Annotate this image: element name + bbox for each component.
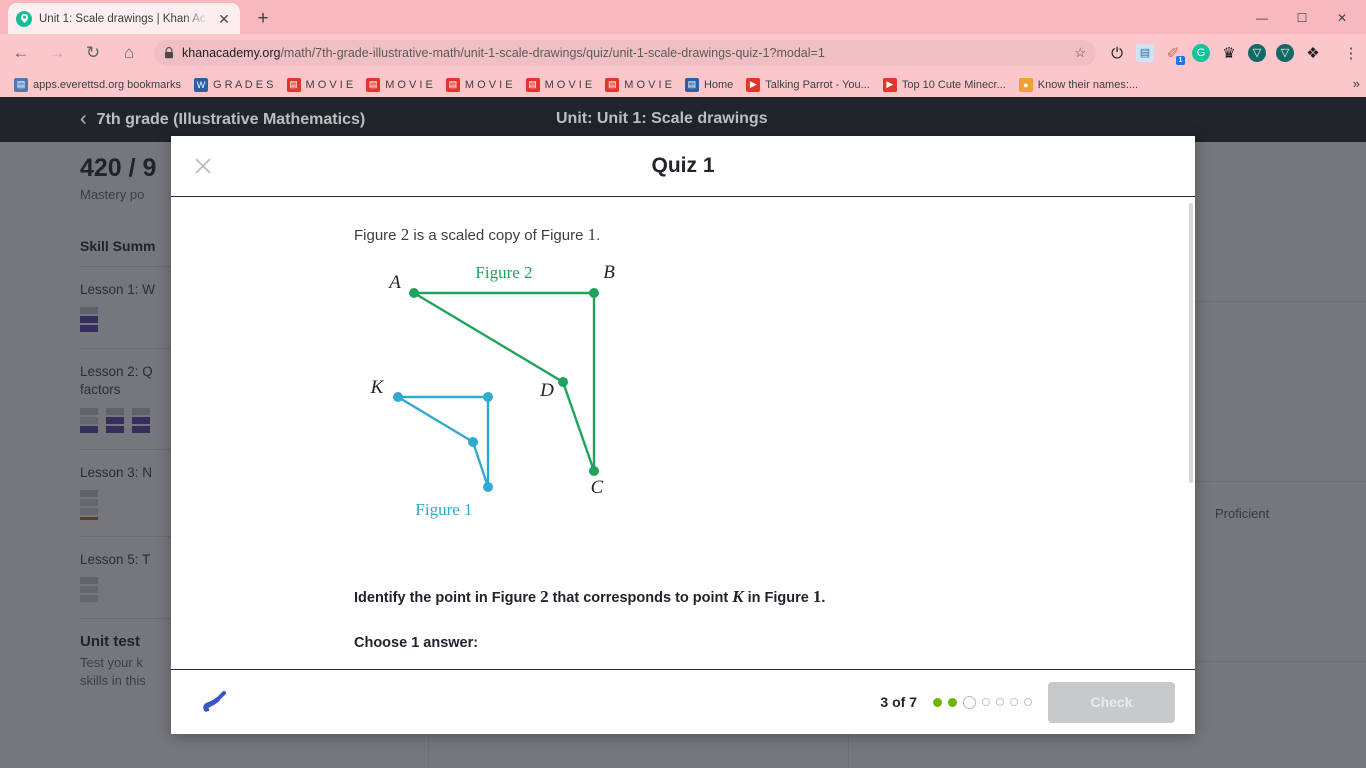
bookmark-label: Top 10 Cute Minecr...	[902, 79, 1006, 91]
question-prompt: Figure 2 is a scaled copy of Figure 1.	[354, 223, 1195, 247]
figure-2-vertex	[589, 466, 599, 476]
browser-tab-title: Unit 1: Scale drawings | Khan Ac	[39, 13, 209, 25]
khan-academy-pencil-icon[interactable]	[197, 685, 231, 719]
home-icon[interactable]: ⌂	[114, 38, 144, 68]
bookmark-item[interactable]: ▤M O V I E	[599, 76, 678, 94]
bookmark-item[interactable]: ▤Home	[679, 76, 739, 94]
window-minimize-button[interactable]: —	[1242, 8, 1282, 28]
clapper-icon: ▤	[287, 78, 301, 92]
screen: Unit 1: Scale drawings | Khan Ac ✕ + — ☐…	[0, 0, 1366, 768]
bookmark-item[interactable]: ▤M O V I E	[360, 76, 439, 94]
window-maximize-button[interactable]: ☐	[1282, 8, 1322, 28]
progress-dot-todo	[996, 698, 1004, 706]
browser-toolbar: ← → ↻ ⌂ khanacademy.org/math/7th-grade-i…	[0, 34, 1366, 72]
app-icon: ●	[1019, 78, 1033, 92]
figure-diagram: ABDCFigure 2KFigure 1	[171, 257, 1193, 577]
prompt-text-end: .	[596, 227, 600, 244]
bookmark-label: apps.everettsd.org bookmarks	[33, 79, 181, 91]
quiz-footer: 3 of 7 Check	[171, 670, 1195, 734]
progress-dot-todo	[982, 698, 990, 706]
bookmark-item[interactable]: ▶Top 10 Cute Minecr...	[877, 76, 1012, 94]
shield-extension-icon[interactable]: ▽	[1248, 44, 1266, 62]
extension-tray: ⏻▤✐1G♛▽▽❖	[1104, 40, 1330, 66]
figure-2-edge	[414, 293, 563, 382]
bookmark-item[interactable]: WG R A D E S	[188, 76, 280, 94]
bookmark-star-icon[interactable]: ☆	[1074, 45, 1086, 61]
browser-tab-strip: Unit 1: Scale drawings | Khan Ac ✕ + — ☐…	[0, 0, 1366, 34]
grammarly-extension-icon[interactable]: G	[1192, 44, 1210, 62]
bookmark-label: M O V I E	[545, 79, 593, 91]
figure-2-point-label: D	[539, 380, 554, 401]
prompt-text-middle: is a scaled copy of Figure	[409, 227, 587, 244]
bookmark-item[interactable]: ▤M O V I E	[520, 76, 599, 94]
quiz-modal-header: Quiz 1	[171, 136, 1195, 196]
quiz-title: Quiz 1	[651, 154, 714, 178]
bookmark-label: M O V I E	[624, 79, 672, 91]
grammar-extension-icon[interactable]: ✐1	[1160, 40, 1186, 66]
ask-part-d: .	[821, 590, 825, 606]
bookmark-label: M O V I E	[385, 79, 433, 91]
quiz-content: Figure 2 is a scaled copy of Figure 1. A…	[171, 196, 1195, 670]
khan-academy-leaf-icon	[16, 11, 32, 27]
bookmark-item[interactable]: ▶Talking Parrot - You...	[740, 76, 876, 94]
question-counter: 3 of 7	[880, 694, 917, 710]
bookmark-label: G R A D E S	[213, 79, 274, 91]
prompt-figure-2: 2	[401, 225, 410, 244]
progress-dot-current	[963, 696, 976, 709]
figure-1-edge	[473, 442, 488, 487]
ask-figure-2: 2	[540, 587, 549, 606]
bookmarks-bar: ▤apps.everettsd.org bookmarksWG R A D E …	[0, 72, 1366, 97]
address-bar[interactable]: khanacademy.org/math/7th-grade-illustrat…	[154, 40, 1096, 66]
browser-tab[interactable]: Unit 1: Scale drawings | Khan Ac ✕	[8, 3, 240, 34]
figure-2-caption: Figure 2	[475, 263, 532, 282]
puzzle-extension-icon[interactable]: ❖	[1300, 40, 1326, 66]
progress-dots	[933, 696, 1032, 709]
bookmark-item[interactable]: ●Know their names:...	[1013, 76, 1144, 94]
bookmark-item[interactable]: ▤M O V I E	[281, 76, 360, 94]
bookmark-label: Know their names:...	[1038, 79, 1138, 91]
folder-icon: ▤	[14, 78, 28, 92]
forward-icon[interactable]: →	[42, 38, 72, 68]
scale-drawing-svg: ABDCFigure 2KFigure 1	[171, 257, 1193, 577]
clapper-icon: ▤	[446, 78, 460, 92]
check-button[interactable]: Check	[1048, 682, 1175, 723]
bookmark-item[interactable]: ▤M O V I E	[440, 76, 519, 94]
screenshot-extension-icon[interactable]: ♛	[1216, 40, 1242, 66]
figure-1-caption: Figure 1	[415, 500, 472, 519]
address-bar-text: khanacademy.org/math/7th-grade-illustrat…	[182, 46, 1066, 60]
progress-dot-todo	[1024, 698, 1032, 706]
bookmark-item[interactable]: ▤apps.everettsd.org bookmarks	[8, 76, 187, 94]
figure-2-vertex	[409, 288, 419, 298]
progress-dot-done	[948, 698, 957, 707]
figure-2-point-label: B	[603, 262, 615, 283]
extension-badge: 1	[1176, 56, 1185, 65]
clapper-icon: ▤	[526, 78, 540, 92]
shield-two-extension-icon[interactable]: ▽	[1276, 44, 1294, 62]
figure-2-point-label: C	[591, 477, 604, 498]
figure-1-vertex	[393, 392, 403, 402]
bookmark-label: Home	[704, 79, 733, 91]
prompt-figure-1: 1	[588, 225, 597, 244]
bookmark-label: Talking Parrot - You...	[765, 79, 870, 91]
footer-right-group: 3 of 7 Check	[880, 682, 1175, 723]
figure-1-edge	[398, 397, 473, 442]
clapper-icon: ▤	[366, 78, 380, 92]
figure-2-point-label: A	[387, 272, 401, 293]
url-domain: khanacademy.org	[182, 46, 280, 60]
reload-icon[interactable]: ↻	[78, 38, 108, 68]
w-icon: W	[194, 78, 208, 92]
window-controls: — ☐ ✕	[1242, 8, 1362, 28]
window-icon: ▤	[685, 78, 699, 92]
figure-1-vertex	[483, 482, 493, 492]
progress-dot-done	[933, 698, 942, 707]
window-close-button[interactable]: ✕	[1322, 8, 1362, 28]
close-icon[interactable]	[190, 153, 216, 179]
figure-1-point-label: K	[370, 377, 385, 398]
prompt-text-before: Figure	[354, 227, 401, 244]
bookmarks-overflow-icon[interactable]: »	[1353, 76, 1360, 91]
figure-1-vertex	[468, 437, 478, 447]
new-tab-button[interactable]: +	[250, 6, 276, 32]
power-extension-icon[interactable]: ⏻	[1104, 40, 1130, 66]
figure-2-edge	[563, 382, 594, 471]
chrome-menu-icon[interactable]: ⋮	[1336, 38, 1366, 68]
progress-dot-todo	[1010, 698, 1018, 706]
lock-icon	[164, 47, 174, 59]
reader-extension-icon[interactable]: ▤	[1136, 44, 1154, 62]
youtube-icon: ▶	[883, 78, 897, 92]
clapper-icon: ▤	[605, 78, 619, 92]
ask-part-b: that corresponds to point	[549, 590, 733, 606]
choose-answer-label: Choose 1 answer:	[354, 635, 1195, 651]
tab-close-icon[interactable]: ✕	[216, 12, 232, 26]
quiz-modal: Quiz 1 Figure 2 is a scaled copy of Figu…	[171, 136, 1195, 734]
ask-part-a: Identify the point in Figure	[354, 590, 540, 606]
figure-2-vertex	[558, 377, 568, 387]
figure-1-vertex	[483, 392, 493, 402]
question-text: Identify the point in Figure 2 that corr…	[354, 587, 1195, 607]
figure-2-vertex	[589, 288, 599, 298]
bookmark-label: M O V I E	[465, 79, 513, 91]
bookmark-label: M O V I E	[306, 79, 354, 91]
ask-point-k: K	[732, 587, 743, 606]
ask-part-c: in Figure	[744, 590, 813, 606]
youtube-icon: ▶	[746, 78, 760, 92]
content-scrollbar[interactable]	[1189, 203, 1193, 483]
url-path: /math/7th-grade-illustrative-math/unit-1…	[280, 46, 824, 60]
back-icon[interactable]: ←	[6, 38, 36, 68]
